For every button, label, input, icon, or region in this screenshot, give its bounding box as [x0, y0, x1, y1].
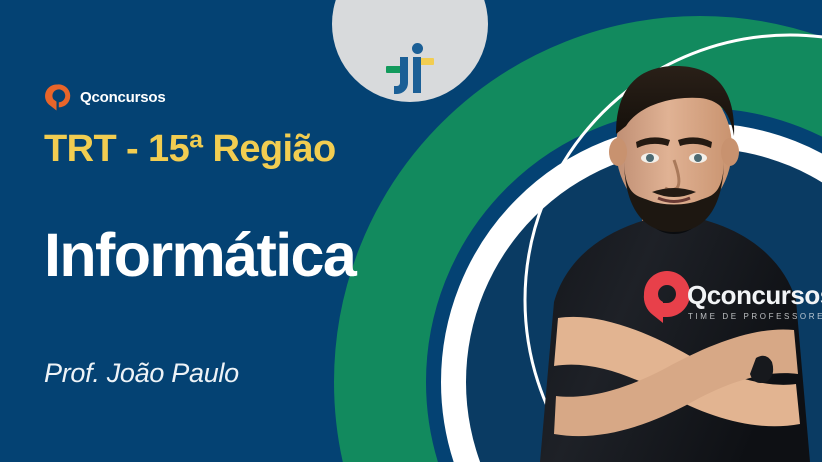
- text-column: Qconcursos TRT - 15ª Região Informática …: [44, 0, 474, 462]
- course-cover-slide: Qconcursos TIME DE PROFESSORES Qconcurso…: [0, 0, 822, 462]
- professor-name: Prof. João Paulo: [44, 358, 239, 389]
- presenter-iris-right: [694, 154, 702, 162]
- brand-name: Qconcursos: [80, 89, 166, 106]
- shirt-brand-text: Qconcursos: [687, 280, 822, 310]
- brand-lockup: Qconcursos: [44, 83, 166, 112]
- subject-title: Informática: [44, 220, 355, 290]
- qconcursos-q-logo: [44, 83, 71, 112]
- shirt-tagline-text: TIME DE PROFESSORES: [688, 312, 822, 321]
- presenter-iris-left: [646, 154, 654, 162]
- exam-title: TRT - 15ª Região: [44, 128, 336, 171]
- presenter-photo: Qconcursos TIME DE PROFESSORES: [524, 0, 822, 462]
- presenter-ear-right: [721, 138, 739, 166]
- presenter-ear-left: [609, 138, 627, 166]
